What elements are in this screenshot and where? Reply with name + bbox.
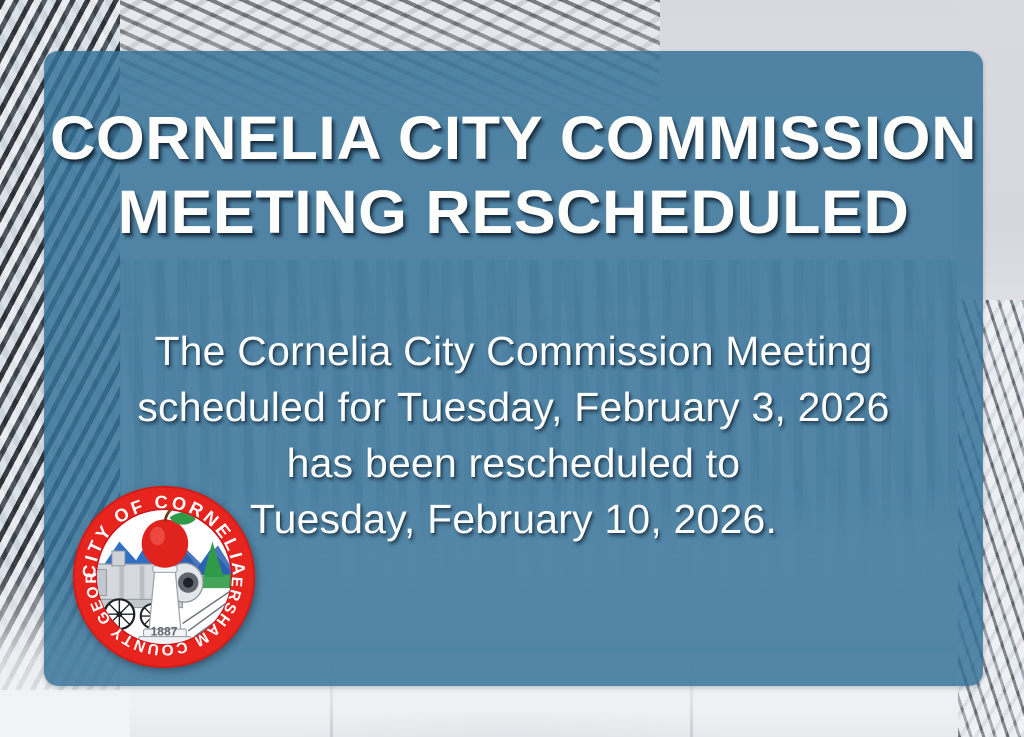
title-line-1: CORNELIA CITY COMMISSION (30, 101, 997, 175)
body-line-3: has been rescheduled to (44, 435, 983, 491)
announcement-panel: CORNELIA CITY COMMISSION MEETING RESCHED… (44, 51, 983, 686)
city-seal-logo: CITY OF CORNELIA HABERSHAM COUNTY GEORGI… (71, 484, 257, 670)
seal-year-text: 1887 (151, 625, 178, 639)
body-line-1: The Cornelia City Commission Meeting (44, 323, 983, 379)
body-line-2: scheduled for Tuesday, February 3, 2026 (44, 379, 983, 435)
page-title: CORNELIA CITY COMMISSION MEETING RESCHED… (44, 101, 983, 249)
title-line-2: MEETING RESCHEDULED (30, 175, 997, 249)
notice-graphic: CORNELIA CITY COMMISSION MEETING RESCHED… (0, 0, 1024, 737)
